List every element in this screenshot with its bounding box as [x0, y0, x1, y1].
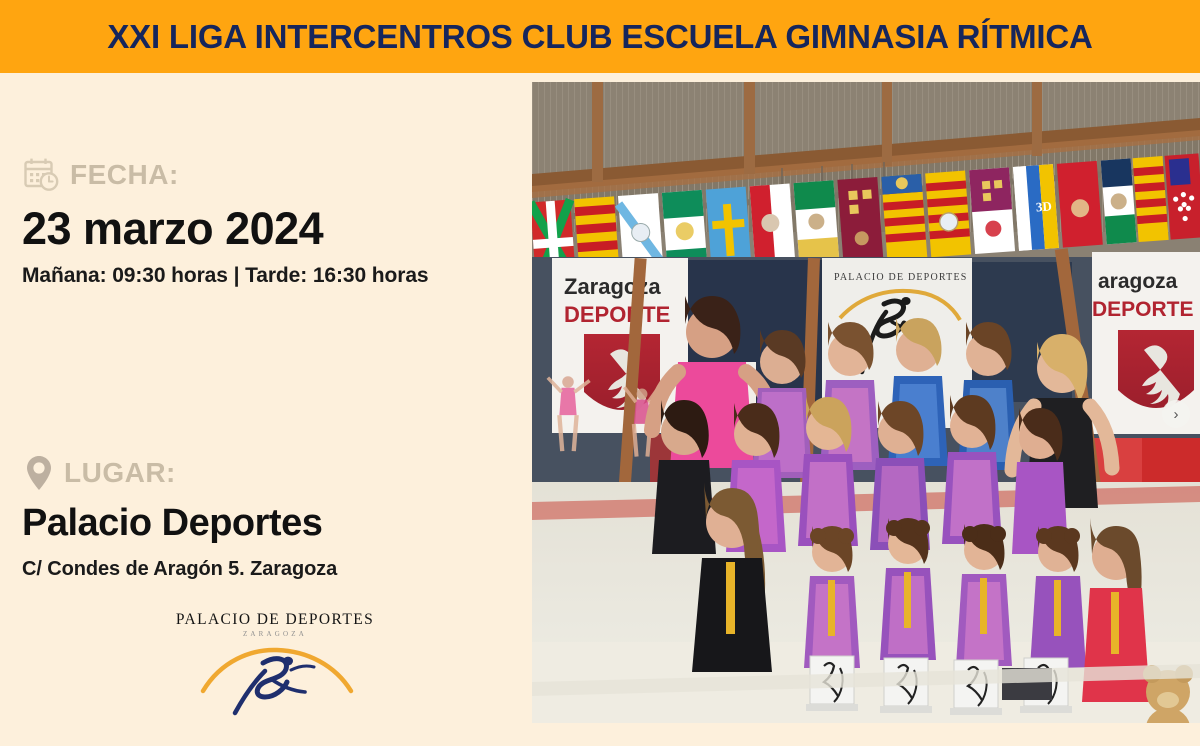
venue-address: C/ Condes de Aragón 5. Zaragoza: [22, 558, 522, 581]
page-title: XXI LIGA INTERCENTROS CLUB ESCUELA GIMNA…: [107, 18, 1092, 56]
logo-runner-mark-icon: [150, 639, 400, 719]
place-label: LUGAR:: [64, 457, 176, 489]
event-date: 23 marzo 2024: [22, 205, 522, 254]
calendar-clock-icon: [22, 155, 62, 195]
logo-name-text: PALACIO DE DEPORTES: [150, 611, 400, 629]
svg-text:aragoza: aragoza: [1098, 270, 1178, 293]
header-band: XXI LIGA INTERCENTROS CLUB ESCUELA GIMNA…: [0, 0, 1200, 73]
date-block: FECHA: 23 marzo 2024 Mañana: 09:30 horas…: [22, 155, 522, 288]
event-photo: 3D: [532, 82, 1200, 723]
place-block: LUGAR: Palacio Deportes C/ Condes de Ara…: [22, 453, 522, 581]
svg-text:PALACIO DE DEPORTES: PALACIO DE DEPORTES: [834, 272, 968, 283]
chevron-right-icon: ›: [1174, 407, 1179, 422]
map-pin-icon: [22, 453, 56, 493]
svg-text:DEPORTE: DEPORTE: [1092, 298, 1194, 321]
place-label-row: LUGAR:: [22, 453, 522, 493]
svg-text:3D: 3D: [1035, 198, 1052, 214]
carousel-next-button[interactable]: ›: [1162, 400, 1190, 428]
palacio-deportes-logo: PALACIO DE DEPORTES ZARAGOZA: [150, 611, 400, 721]
svg-text:DEPORTE: DEPORTE: [564, 302, 670, 327]
svg-text:Zaragoza: Zaragoza: [564, 274, 661, 299]
date-label: FECHA:: [70, 159, 179, 191]
venue-name: Palacio Deportes: [22, 503, 522, 544]
event-info-panel: FECHA: 23 marzo 2024 Mañana: 09:30 horas…: [0, 73, 532, 746]
date-label-row: FECHA:: [22, 155, 522, 195]
event-schedule: Mañana: 09:30 horas | Tarde: 16:30 horas: [22, 264, 522, 288]
logo-city-text: ZARAGOZA: [150, 630, 400, 638]
event-poster: XXI LIGA INTERCENTROS CLUB ESCUELA GIMNA…: [0, 0, 1200, 746]
